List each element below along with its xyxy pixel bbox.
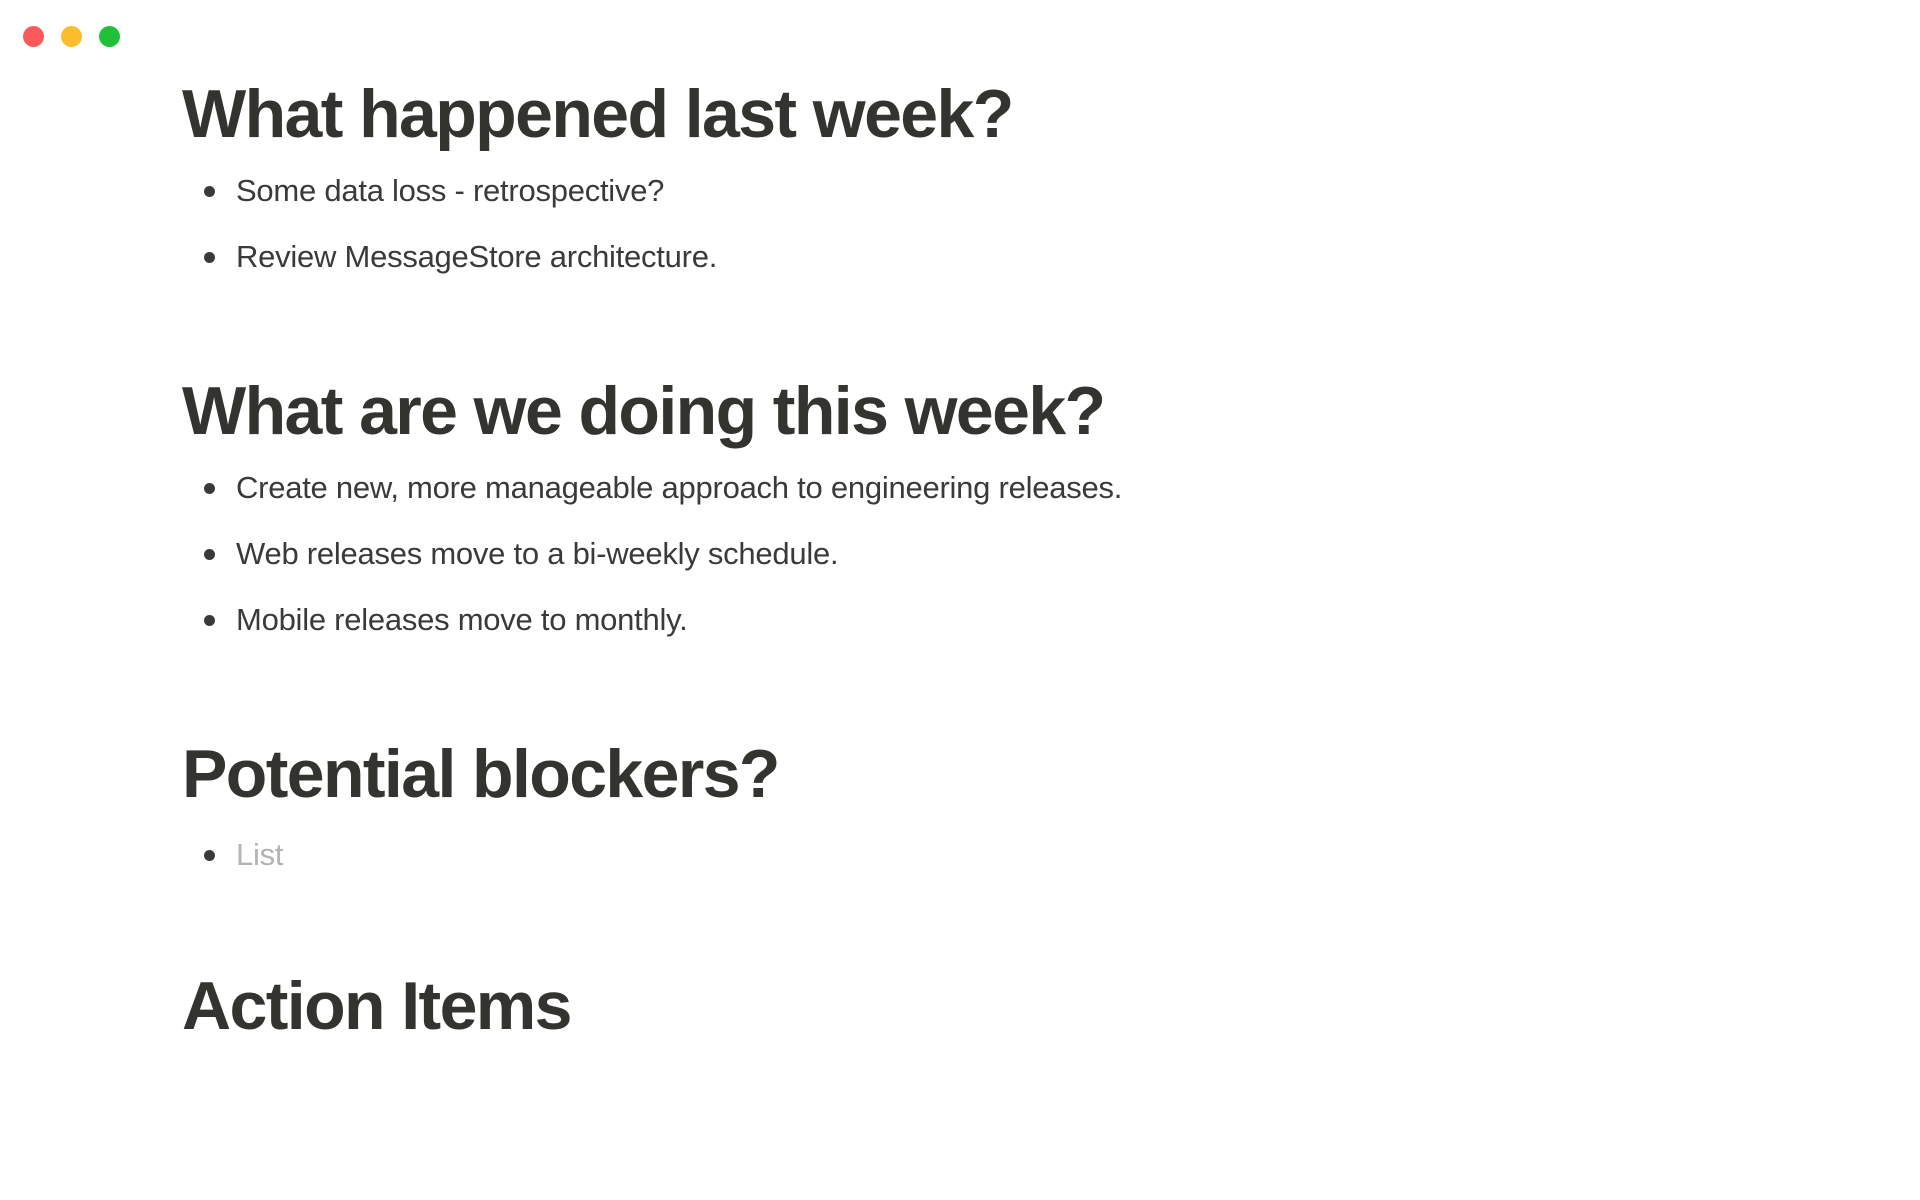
zoom-window-button[interactable] [99, 26, 120, 47]
list-item[interactable]: Review MessageStore architecture. [182, 238, 1860, 275]
list-item-text: Mobile releases move to monthly. [236, 602, 687, 637]
heading-last-week[interactable]: What happened last week? [182, 79, 1860, 150]
list-item[interactable]: Some data loss - retrospective? [182, 172, 1860, 209]
heading-action-items[interactable]: Action Items [182, 971, 1860, 1042]
section-last-week: What happened last week? Some data loss … [182, 79, 1860, 275]
list-item[interactable]: Web releases move to a bi-weekly schedul… [182, 535, 1860, 572]
bullet-list-last-week: Some data loss - retrospective? Review M… [182, 172, 1860, 275]
list-item-text: Review MessageStore architecture. [236, 239, 717, 274]
minimize-window-button[interactable] [61, 26, 82, 47]
document-canvas[interactable]: What happened last week? Some data loss … [0, 62, 1920, 1200]
list-item-text: Web releases move to a bi-weekly schedul… [236, 536, 838, 571]
list-item-text: Create new, more manageable approach to … [236, 470, 1122, 505]
window-controls [23, 26, 120, 47]
list-item-placeholder-text: List [236, 837, 283, 872]
close-window-button[interactable] [23, 26, 44, 47]
window-title-bar [0, 0, 1920, 62]
bullet-list-blockers: List [182, 836, 1860, 873]
list-item-text: Some data loss - retrospective? [236, 173, 664, 208]
section-blockers: Potential blockers? List [182, 739, 1860, 873]
bullet-list-this-week: Create new, more manageable approach to … [182, 469, 1860, 639]
heading-this-week[interactable]: What are we doing this week? [182, 376, 1860, 447]
list-item[interactable]: Mobile releases move to monthly. [182, 601, 1860, 638]
list-item[interactable]: Create new, more manageable approach to … [182, 469, 1860, 506]
heading-potential-blockers[interactable]: Potential blockers? [182, 739, 1860, 810]
section-action-items: Action Items [182, 971, 1860, 1042]
list-item-placeholder[interactable]: List [182, 836, 1860, 873]
section-this-week: What are we doing this week? Create new,… [182, 376, 1860, 638]
